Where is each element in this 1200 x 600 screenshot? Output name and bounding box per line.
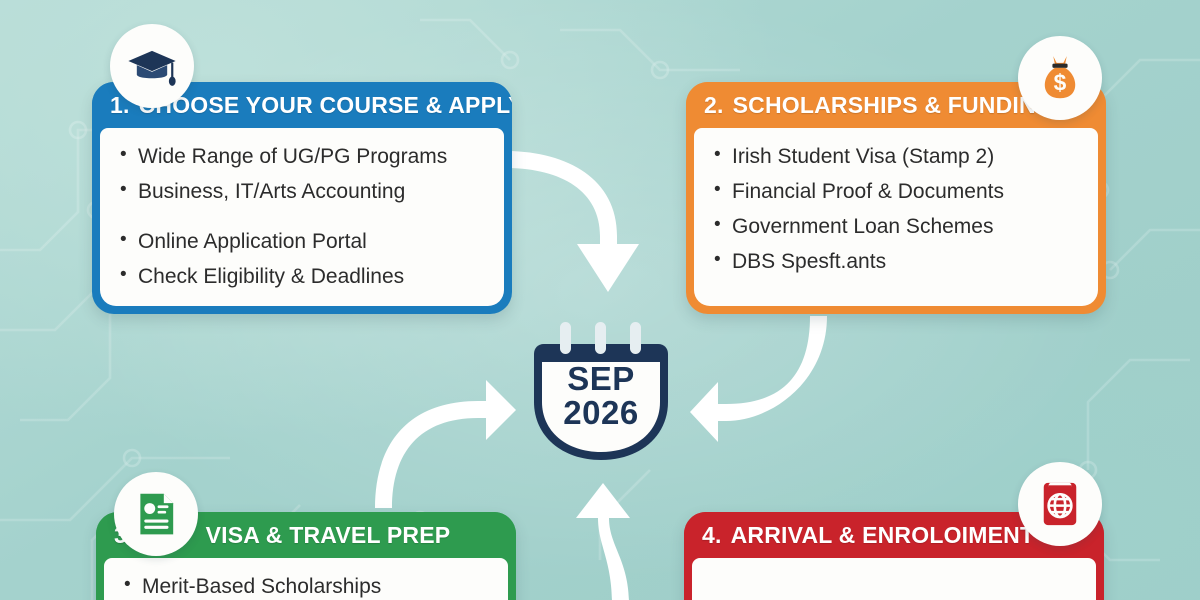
arrow-step2-to-calendar-icon <box>690 316 827 442</box>
step-card-2-number: 2. <box>686 92 724 119</box>
money-bag-icon: $ <box>1033 51 1087 105</box>
list-item: Merit-Based Scholarships <box>122 572 498 600</box>
list-item: Online Application Portal <box>118 227 494 257</box>
calendar-month: SEP <box>516 362 686 396</box>
svg-text:$: $ <box>1054 70 1067 96</box>
arrow-step1-to-step2-icon <box>505 151 639 292</box>
list-item: Financial Proof & Documents <box>712 177 1088 207</box>
step-card-1[interactable]: 1. CHOOSE YOUR COURSE & APPLY Wide Range… <box>92 82 512 314</box>
step-card-4-body <box>692 558 1096 600</box>
step-card-1-icon-badge <box>110 24 194 108</box>
list-item: Government Loan Schemes <box>712 212 1088 242</box>
step-card-3-icon-badge <box>114 472 198 556</box>
step-card-4-icon-badge <box>1018 462 1102 546</box>
list-item: Wide Range of UG/PG Programs <box>118 142 494 172</box>
list-item: Irish Student Visa (Stamp 2) <box>712 142 1088 172</box>
calendar-date-label: SEP 2026 <box>516 362 686 430</box>
step-card-1-body: Wide Range of UG/PG Programs Business, I… <box>100 128 504 306</box>
center-calendar: SEP 2026 <box>516 310 686 470</box>
arrow-step4-to-calendar-icon <box>576 483 630 600</box>
step-card-3-bullet-list: Merit-Based Scholarships <box>122 572 498 600</box>
step-card-2-bullet-list: Irish Student Visa (Stamp 2) Financial P… <box>712 142 1088 277</box>
id-document-icon <box>131 489 181 539</box>
step-card-1-title: CHOOSE YOUR COURSE & APPLY <box>130 92 512 119</box>
list-item: Business, IT/Arts Accounting <box>118 177 494 207</box>
step-card-1-bullet-list: Wide Range of UG/PG Programs Business, I… <box>118 142 494 292</box>
step-card-3-body: Merit-Based Scholarships <box>104 558 508 600</box>
graduation-cap-icon <box>125 39 179 93</box>
step-card-2-icon-badge: $ <box>1018 36 1102 120</box>
arrow-step3-to-calendar-icon <box>375 380 516 508</box>
calendar-year: 2026 <box>516 396 686 430</box>
list-item: DBS Spesft.ants <box>712 247 1088 277</box>
step-card-2-title: SCHOLARSHIPS & FUNDING <box>724 92 1054 119</box>
step-card-4-number: 4. <box>684 522 722 549</box>
list-item: Check Eligibility & Deadlines <box>118 262 494 292</box>
passport-globe-icon <box>1034 478 1086 530</box>
infographic-canvas: 1. CHOOSE YOUR COURSE & APPLY Wide Range… <box>0 0 1200 600</box>
step-card-4-title: ARRIVAL & ENROLOIMENT <box>722 522 1035 549</box>
step-card-2-body: Irish Student Visa (Stamp 2) Financial P… <box>694 128 1098 306</box>
